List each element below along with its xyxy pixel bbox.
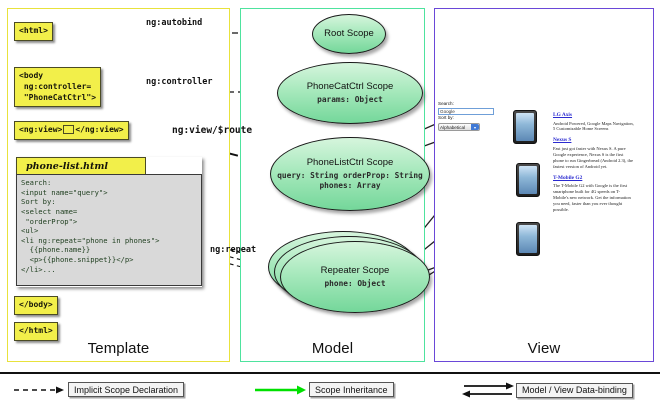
scope-root: Root Scope bbox=[312, 14, 386, 54]
panel-template-label: Template bbox=[8, 340, 229, 357]
legend-item-scope-inheritance: Scope Inheritance bbox=[253, 382, 394, 397]
sort-select-value: Alphabetical bbox=[440, 125, 465, 130]
scope-phonelistctrl: PhoneListCtrl Scope query: String orderP… bbox=[270, 137, 430, 211]
html-tag-chip: <html> bbox=[14, 22, 53, 41]
phone-thumbnail-3 bbox=[516, 222, 540, 256]
edge-label-route: ng:view/$route bbox=[172, 125, 252, 136]
edge-label-repeat: ng:repeat bbox=[210, 245, 256, 255]
phone-name-link[interactable]: T-Mobile G2 bbox=[553, 175, 635, 182]
legend: Implicit Scope Declaration Scope Inherit… bbox=[0, 372, 660, 407]
sort-select[interactable]: Alphabetical▾ bbox=[438, 123, 480, 131]
scope-repeater-name: Repeater Scope bbox=[321, 265, 390, 276]
body-close-chip: </body> bbox=[14, 296, 58, 315]
ngview-tag-chip: <ng:view></ng:view> bbox=[14, 121, 129, 140]
list-item: Nexus S Fast just got faster with Nexus … bbox=[553, 137, 635, 169]
search-label: Search: bbox=[438, 101, 500, 108]
phone-description: The T-Mobile G2 with Google is the first… bbox=[553, 183, 635, 213]
legend-label-implicit-scope: Implicit Scope Declaration bbox=[68, 382, 184, 397]
ngview-open-label: <ng:view> bbox=[19, 125, 62, 134]
body-tag-chip: <body ng:controller= "PhoneCatCtrl"> bbox=[14, 67, 101, 107]
scope-phonelistctrl-props: query: String orderProp: String phones: … bbox=[271, 171, 429, 190]
scope-repeater-props: phone: Object bbox=[324, 279, 385, 289]
phone-name-link[interactable]: LG Axis bbox=[553, 112, 635, 119]
phone-thumbnail-1 bbox=[513, 110, 537, 144]
double-arrow-icon bbox=[460, 382, 516, 398]
phone-screen bbox=[516, 113, 534, 141]
list-item: T-Mobile G2 The T-Mobile G2 with Google … bbox=[553, 175, 635, 213]
scope-repeater: Repeater Scope phone: Object bbox=[280, 241, 430, 313]
phone-screen bbox=[519, 225, 537, 253]
scope-root-name: Root Scope bbox=[324, 28, 374, 39]
diagram-canvas: Template Model View <html> <body ng:cont… bbox=[0, 0, 660, 405]
edge-label-autobind: ng:autobind bbox=[146, 18, 202, 28]
legend-label-data-binding: Model / View Data-binding bbox=[516, 383, 633, 398]
html-close-chip: </html> bbox=[14, 322, 58, 341]
phone-list-code-card: phone-list.html Search: <input name="que… bbox=[16, 157, 202, 287]
phone-name-link[interactable]: Nexus S bbox=[553, 137, 635, 144]
phone-description: Fast just got faster with Nexus S. A pur… bbox=[553, 146, 635, 170]
code-card-body: Search: <input name="query"> Sort by: <s… bbox=[16, 174, 202, 286]
dashed-arrow-icon bbox=[12, 384, 68, 396]
scope-phonecatctrl-name: PhoneCatCtrl Scope bbox=[307, 81, 394, 92]
legend-item-data-binding: Model / View Data-binding bbox=[460, 382, 633, 398]
phone-list: LG Axis Android Powered, Google Maps Nav… bbox=[553, 112, 635, 218]
phone-thumbnail-2 bbox=[516, 163, 540, 197]
ngview-placeholder-box bbox=[63, 125, 74, 134]
panel-view-label: View bbox=[435, 340, 653, 357]
chevron-down-icon: ▾ bbox=[471, 124, 479, 130]
code-card-title: phone-list.html bbox=[16, 157, 146, 174]
ngview-close-label: </ng:view> bbox=[75, 125, 123, 134]
legend-label-scope-inheritance: Scope Inheritance bbox=[309, 382, 394, 397]
scope-phonecatctrl-props: params: Object bbox=[317, 95, 383, 105]
legend-item-implicit-scope: Implicit Scope Declaration bbox=[12, 382, 184, 397]
list-item: LG Axis Android Powered, Google Maps Nav… bbox=[553, 112, 635, 132]
green-arrow-icon bbox=[253, 384, 309, 396]
sort-label: Sort by: bbox=[438, 115, 500, 122]
search-input[interactable]: Google bbox=[438, 108, 494, 115]
phone-screen bbox=[519, 166, 537, 194]
scope-phonecatctrl: PhoneCatCtrl Scope params: Object bbox=[277, 62, 423, 124]
view-search-form: Search: Google Sort by: Alphabetical▾ bbox=[438, 101, 500, 131]
phone-description: Android Powered, Google Maps Navigation,… bbox=[553, 121, 635, 133]
panel-model-label: Model bbox=[241, 340, 424, 357]
scope-phonelistctrl-name: PhoneListCtrl Scope bbox=[307, 157, 394, 168]
edge-label-controller: ng:controller bbox=[146, 77, 213, 87]
